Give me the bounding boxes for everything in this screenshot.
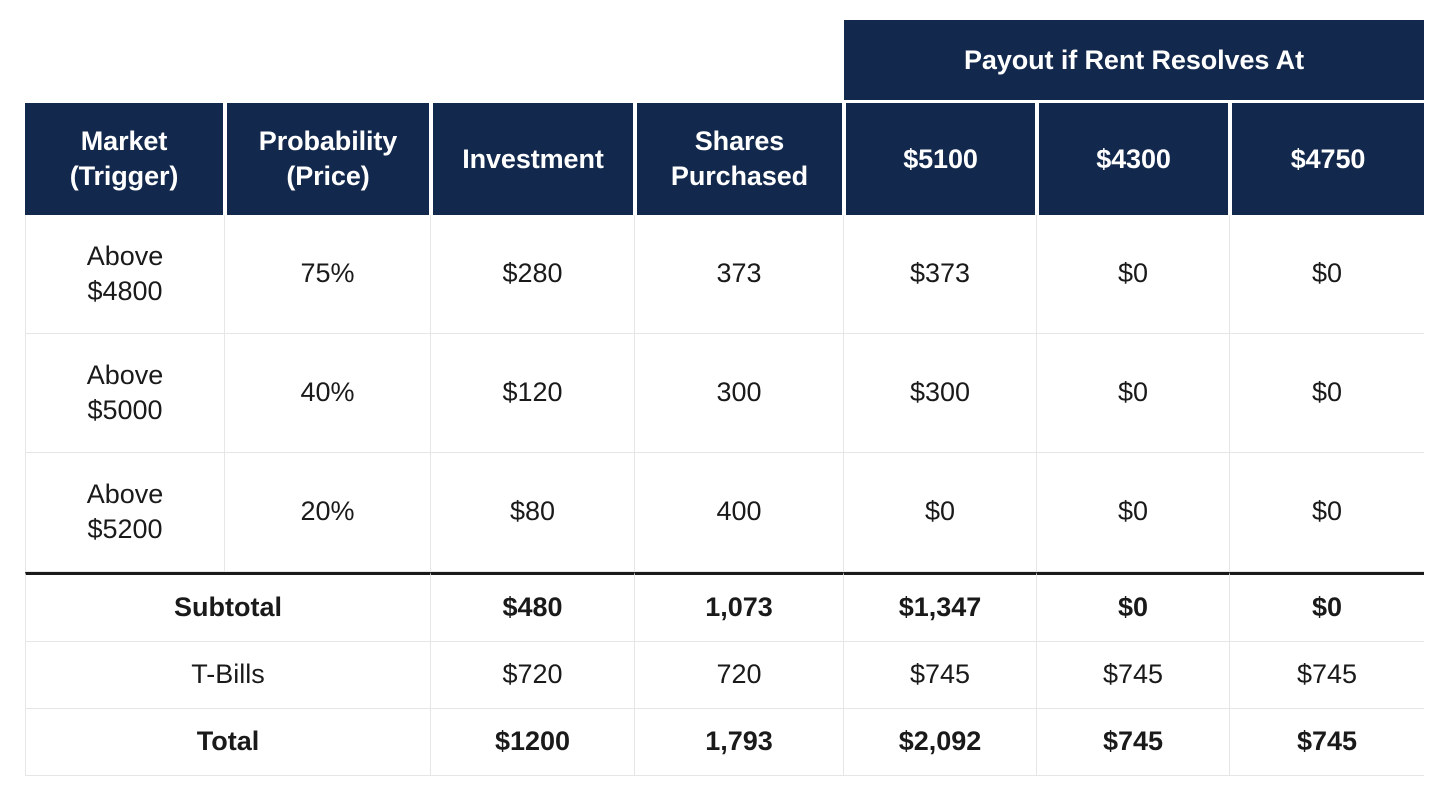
- table-row-total: Total $1200 1,793 $2,092 $745 $745: [25, 709, 1424, 776]
- payout-table-container: Payout if Rent Resolves At Market (Trigg…: [25, 20, 1424, 776]
- cell-payout-4300: $0: [1037, 334, 1230, 453]
- cell-payout-4300: $0: [1037, 215, 1230, 334]
- cell-total-label: Total: [25, 709, 431, 776]
- cell-shares: 300: [635, 334, 844, 453]
- column-header-probability[interactable]: Probability (Price): [225, 103, 431, 215]
- column-header-shares[interactable]: Shares Purchased: [635, 103, 844, 215]
- cell-market-line2: $5200: [26, 512, 224, 547]
- cell-market: Above $4800: [25, 215, 225, 334]
- cell-shares: 373: [635, 215, 844, 334]
- cell-market-line2: $4800: [26, 274, 224, 309]
- column-header-payout-4300[interactable]: $4300: [1037, 103, 1230, 215]
- cell-payout-5100: $0: [844, 453, 1037, 572]
- cell-total-investment: $1200: [431, 709, 635, 776]
- table-row: Above $4800 75% $280 373 $373 $0 $0: [25, 215, 1424, 334]
- cell-market: Above $5000: [25, 334, 225, 453]
- cell-total-payout-4300: $745: [1037, 709, 1230, 776]
- cell-subtotal-payout-5100: $1,347: [844, 572, 1037, 642]
- cell-market-line1: Above: [26, 239, 224, 274]
- cell-market-line2: $5000: [26, 393, 224, 428]
- column-header-probability-line1: Probability: [227, 124, 429, 159]
- column-header-payout-5100[interactable]: $5100: [844, 103, 1037, 215]
- cell-payout-4300: $0: [1037, 453, 1230, 572]
- cell-subtotal-payout-4300: $0: [1037, 572, 1230, 642]
- cell-payout-5100: $300: [844, 334, 1037, 453]
- cell-tbills-payout-5100: $745: [844, 642, 1037, 709]
- cell-subtotal-payout-4750: $0: [1230, 572, 1424, 642]
- cell-tbills-label: T-Bills: [25, 642, 431, 709]
- column-header-shares-line2: Purchased: [637, 159, 842, 194]
- column-header-row: Market (Trigger) Probability (Price) Inv…: [25, 103, 1424, 215]
- column-header-investment[interactable]: Investment: [431, 103, 635, 215]
- column-header-probability-line2: (Price): [227, 159, 429, 194]
- cell-payout-5100: $373: [844, 215, 1037, 334]
- column-header-market-line2: (Trigger): [25, 159, 223, 194]
- cell-probability: 20%: [225, 453, 431, 572]
- table-row-tbills: T-Bills $720 720 $745 $745 $745: [25, 642, 1424, 709]
- cell-market-line1: Above: [26, 358, 224, 393]
- cell-total-payout-5100: $2,092: [844, 709, 1037, 776]
- cell-tbills-investment: $720: [431, 642, 635, 709]
- cell-probability: 75%: [225, 215, 431, 334]
- table-body: Above $4800 75% $280 373 $373 $0 $0 Abov…: [25, 215, 1424, 776]
- column-header-market-line1: Market: [25, 124, 223, 159]
- table-row: Above $5200 20% $80 400 $0 $0 $0: [25, 453, 1424, 572]
- column-header-payout-4750[interactable]: $4750: [1230, 103, 1424, 215]
- column-header-payout-4300-label: $4300: [1039, 142, 1228, 177]
- cell-investment: $120: [431, 334, 635, 453]
- cell-total-shares: 1,793: [635, 709, 844, 776]
- table-row: Above $5000 40% $120 300 $300 $0 $0: [25, 334, 1424, 453]
- cell-investment: $280: [431, 215, 635, 334]
- cell-tbills-shares: 720: [635, 642, 844, 709]
- cell-subtotal-label: Subtotal: [25, 572, 431, 642]
- column-header-payout-5100-label: $5100: [846, 142, 1035, 177]
- cell-total-payout-4750: $745: [1230, 709, 1424, 776]
- cell-tbills-payout-4750: $745: [1230, 642, 1424, 709]
- cell-payout-4750: $0: [1230, 215, 1424, 334]
- cell-payout-4750: $0: [1230, 453, 1424, 572]
- group-header-spacer: [25, 20, 844, 103]
- cell-tbills-payout-4300: $745: [1037, 642, 1230, 709]
- group-header-row: Payout if Rent Resolves At: [25, 20, 1424, 103]
- cell-probability: 40%: [225, 334, 431, 453]
- cell-market: Above $5200: [25, 453, 225, 572]
- column-header-shares-line1: Shares: [637, 124, 842, 159]
- cell-subtotal-investment: $480: [431, 572, 635, 642]
- cell-market-line1: Above: [26, 477, 224, 512]
- cell-payout-4750: $0: [1230, 334, 1424, 453]
- column-header-payout-4750-label: $4750: [1232, 142, 1424, 177]
- table-header: Payout if Rent Resolves At Market (Trigg…: [25, 20, 1424, 215]
- cell-investment: $80: [431, 453, 635, 572]
- payout-table: Payout if Rent Resolves At Market (Trigg…: [25, 20, 1424, 776]
- cell-subtotal-shares: 1,073: [635, 572, 844, 642]
- column-header-investment-line1: Investment: [433, 142, 633, 177]
- column-header-market[interactable]: Market (Trigger): [25, 103, 225, 215]
- group-header-payout: Payout if Rent Resolves At: [844, 20, 1424, 103]
- table-row-subtotal: Subtotal $480 1,073 $1,347 $0 $0: [25, 572, 1424, 642]
- cell-shares: 400: [635, 453, 844, 572]
